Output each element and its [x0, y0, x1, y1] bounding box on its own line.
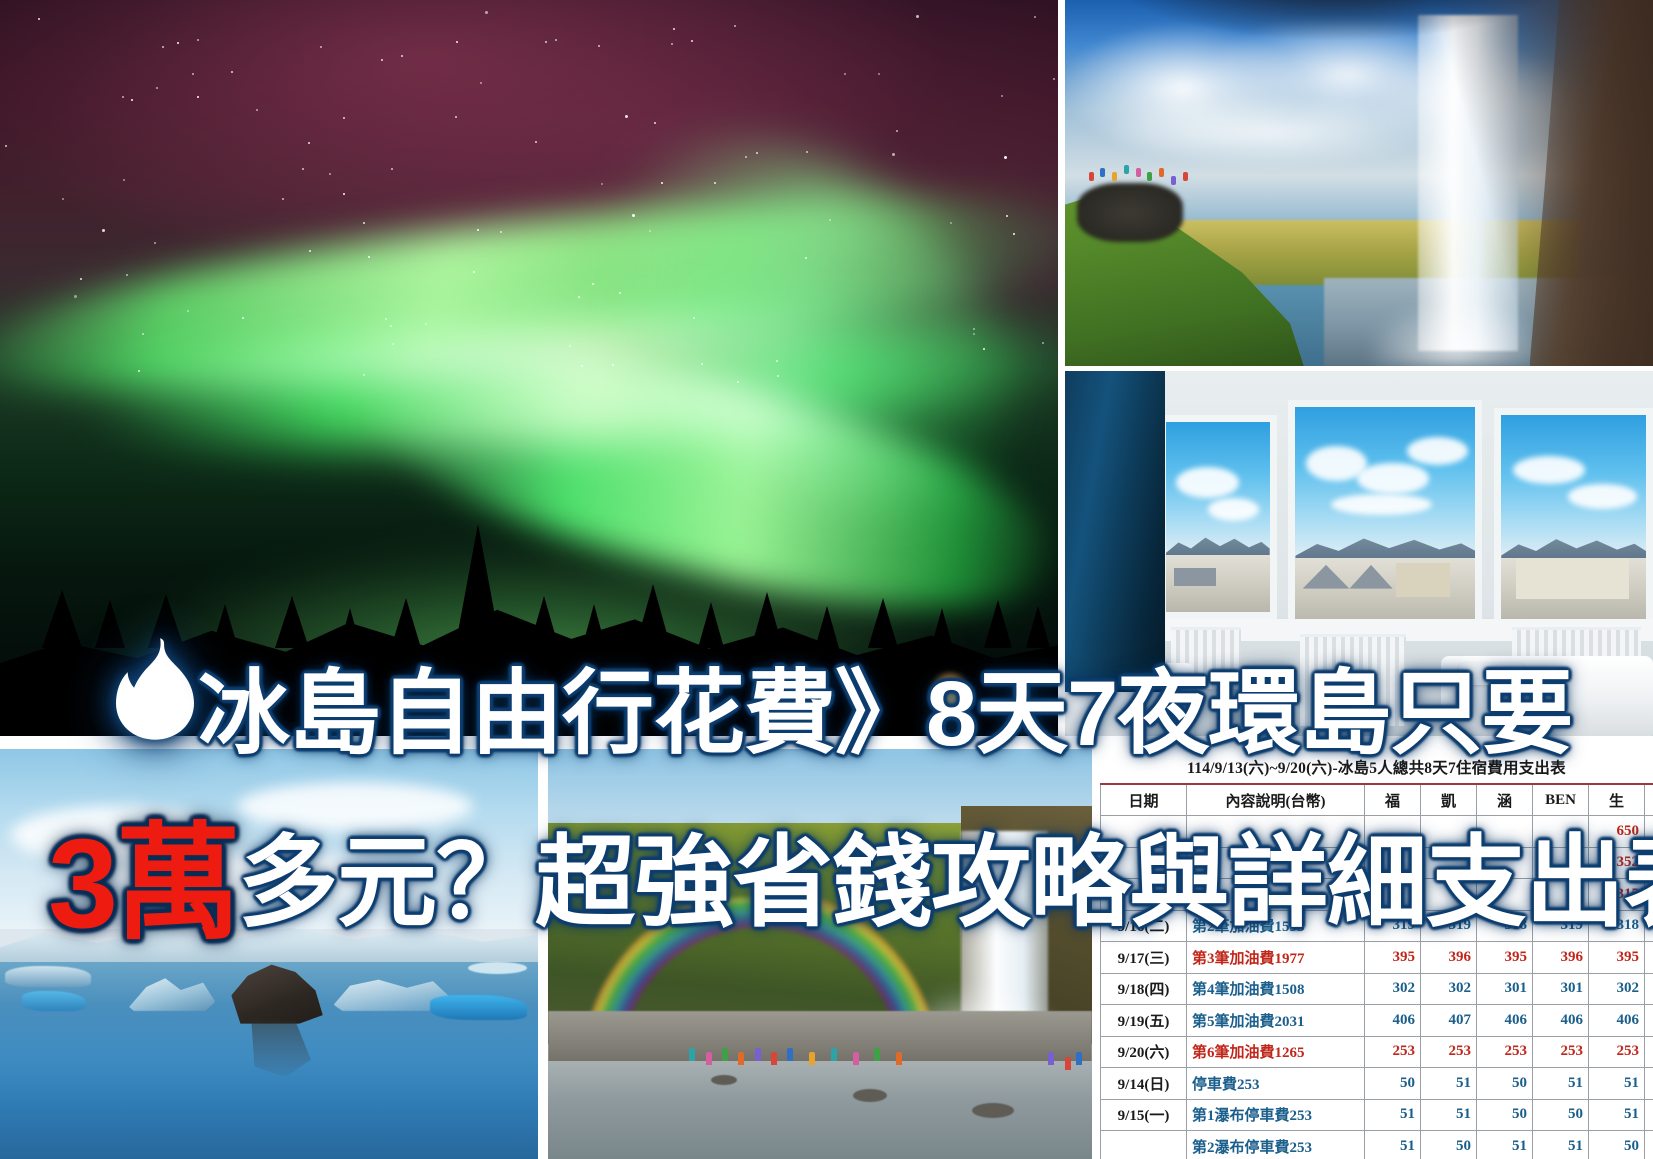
star	[156, 87, 158, 89]
star	[654, 122, 656, 124]
table-row: 9/16(二)第2筆加油費15933193193183193181593	[1101, 910, 1653, 942]
cell-total: 1508	[1645, 973, 1653, 1005]
star	[256, 109, 258, 111]
star	[123, 179, 125, 181]
tourist	[1147, 172, 1152, 181]
cell-date: 9/18(四)	[1101, 973, 1187, 1005]
cell-sheng: 352	[1589, 847, 1645, 879]
curtain	[1065, 371, 1165, 692]
star	[601, 183, 603, 185]
tourist	[896, 1052, 902, 1065]
cell-desc	[1187, 816, 1365, 848]
cell-kai: 302	[1421, 973, 1477, 1005]
col-header-total: 總計	[1645, 784, 1653, 816]
star	[302, 168, 304, 170]
tourist	[722, 1048, 728, 1061]
cell-han	[1477, 816, 1533, 848]
table-row: 3521750	[1101, 847, 1653, 879]
star	[401, 55, 403, 57]
cell-date: 9/15(一)	[1101, 1099, 1187, 1131]
conifer-tree	[148, 594, 184, 648]
star	[363, 222, 365, 224]
cell-fu	[1365, 847, 1421, 879]
cell-desc	[1187, 847, 1365, 879]
conifer-tree	[95, 600, 125, 648]
star	[102, 229, 105, 232]
photo-aurora-borealis-over-forest	[0, 0, 1058, 736]
conifer-tree	[751, 592, 783, 648]
col-header-ben: BEN	[1533, 784, 1589, 816]
campfire-glow-2	[931, 673, 969, 707]
star	[844, 73, 846, 75]
cell-total: 1265	[1645, 1036, 1653, 1068]
cell-fu	[1365, 879, 1421, 911]
tourist	[1159, 168, 1164, 177]
wf1-rocks	[1077, 183, 1183, 242]
star	[892, 153, 895, 156]
window-right	[1494, 408, 1653, 627]
tourist	[1048, 1052, 1054, 1065]
cell-sheng: 406	[1589, 1005, 1645, 1037]
star	[343, 193, 345, 195]
cell-kai	[1421, 879, 1477, 911]
conifer-tree	[582, 604, 606, 648]
window-center	[1288, 400, 1482, 630]
star	[197, 39, 199, 41]
cell-han: 301	[1477, 973, 1533, 1005]
conifer-tree	[868, 598, 898, 648]
cell-kai: 407	[1421, 1005, 1477, 1037]
cell-kai: 50	[1421, 1131, 1477, 1159]
cell-sheng: 253	[1589, 1036, 1645, 1068]
tourist	[689, 1048, 695, 1061]
cell-ben: 50	[1533, 1099, 1589, 1131]
tourist	[738, 1052, 744, 1065]
cell-desc: 第1瀑布停車費253	[1187, 1099, 1365, 1131]
star	[545, 41, 547, 43]
star	[391, 168, 393, 170]
cell-date: 9/20(六)	[1101, 1036, 1187, 1068]
tourist	[1100, 168, 1105, 177]
conifer-tree	[275, 596, 309, 648]
col-header-fu: 福	[1365, 784, 1421, 816]
star	[126, 274, 128, 276]
cell-fu: 51	[1365, 1131, 1421, 1159]
star	[154, 242, 156, 244]
col-header-date: 日期	[1101, 784, 1187, 816]
star	[691, 40, 693, 42]
cell-sheng: 315	[1589, 879, 1645, 911]
star	[1034, 16, 1036, 18]
conifer-tree	[529, 596, 559, 648]
col-header-han: 涵	[1477, 784, 1533, 816]
table-row: 9/15(一)第1瀑布停車費2535151505051253	[1101, 1099, 1653, 1131]
cell-han: 406	[1477, 1005, 1533, 1037]
cell-date: 9/17(三)	[1101, 942, 1187, 974]
cell-fu: 253	[1365, 1036, 1421, 1068]
table-row: 9/14(日)停車費2535051505151253	[1101, 1068, 1653, 1100]
star	[896, 130, 898, 132]
cell-han: 50	[1477, 1099, 1533, 1131]
star	[455, 116, 457, 118]
tourist	[1124, 165, 1129, 174]
star	[381, 59, 383, 61]
cell-date: 9/16(二)	[1101, 910, 1187, 942]
conifer-tree	[1026, 606, 1050, 648]
cell-ben: 253	[1533, 1036, 1589, 1068]
star	[1001, 95, 1003, 97]
cell-ben: 301	[1533, 973, 1589, 1005]
table-row: 第2瀑布停車費2535150515150253	[1101, 1131, 1653, 1159]
star	[162, 46, 164, 48]
cell-kai: 51	[1421, 1099, 1477, 1131]
table-row: 9/19(五)第5筆加油費20314064074064064062031	[1101, 1005, 1653, 1037]
tourist	[853, 1052, 859, 1065]
star	[231, 71, 233, 73]
cell-kai: 51	[1421, 1068, 1477, 1100]
cell-desc: 第2筆加油費1593	[1187, 910, 1365, 942]
cell-total: 1750	[1645, 847, 1653, 879]
cell-ben: 51	[1533, 1068, 1589, 1100]
conifer-tree	[698, 602, 724, 648]
star	[122, 96, 124, 98]
conifer-tree	[391, 598, 421, 648]
conifer-tree	[931, 608, 953, 648]
thumbnail-collage: 114/9/13(六)~9/20(六)-冰島5人總共8天7住宿費用支出表 日期 …	[0, 0, 1653, 1159]
photo-hostel-room-window-view	[1065, 371, 1653, 736]
star	[5, 145, 7, 147]
tourist	[809, 1052, 815, 1065]
conifer-tree	[455, 524, 501, 648]
cell-sheng: 51	[1589, 1068, 1645, 1100]
cell-han: 51	[1477, 1131, 1533, 1159]
table-row: 3151574	[1101, 879, 1653, 911]
cell-han: 395	[1477, 942, 1533, 974]
star	[177, 42, 179, 44]
star	[192, 73, 194, 75]
tourist	[706, 1052, 712, 1065]
cell-fu: 50	[1365, 1068, 1421, 1100]
star	[734, 25, 736, 27]
tourist	[755, 1048, 761, 1061]
cell-fu	[1365, 816, 1421, 848]
cell-total: 1977	[1645, 942, 1653, 974]
cell-kai: 319	[1421, 910, 1477, 942]
tourist	[1076, 1052, 1082, 1065]
cell-ben	[1533, 879, 1589, 911]
tourist	[1136, 168, 1141, 177]
conifer-tree	[815, 606, 839, 648]
wf2-rock-1	[853, 1089, 887, 1102]
star	[671, 43, 673, 45]
cell-ben	[1533, 847, 1589, 879]
star	[673, 28, 675, 30]
table-row: 9/18(四)第4筆加油費15083023023013013021508	[1101, 973, 1653, 1005]
cell-total: 253	[1645, 1131, 1653, 1159]
cell-sheng: 650	[1589, 816, 1645, 848]
tourist	[1065, 1057, 1071, 1070]
cell-kai: 253	[1421, 1036, 1477, 1068]
star	[806, 151, 808, 153]
star	[456, 41, 458, 43]
star	[555, 39, 557, 41]
window-left	[1159, 415, 1277, 619]
star	[598, 45, 600, 47]
cell-total: 253	[1645, 1099, 1653, 1131]
star	[480, 82, 482, 84]
cell-fu: 406	[1365, 1005, 1421, 1037]
cell-kai	[1421, 816, 1477, 848]
star	[329, 173, 331, 175]
tourist	[787, 1048, 793, 1061]
photo-jokulsarlon-glacier-lagoon	[0, 749, 538, 1159]
cell-sheng: 51	[1589, 1099, 1645, 1131]
campfire-glow-1	[772, 667, 818, 707]
cell-desc: 第2瀑布停車費253	[1187, 1131, 1365, 1159]
cell-desc: 第3筆加油費1977	[1187, 942, 1365, 974]
cell-han: 50	[1477, 1068, 1533, 1100]
cell-ben: 406	[1533, 1005, 1589, 1037]
expense-table: 日期 內容說明(台幣) 福 凱 涵 BEN 生 總計 6502825035217…	[1100, 783, 1653, 1159]
col-header-sheng: 生	[1589, 784, 1645, 816]
table-row: 9/17(三)第3筆加油費19773953963953963951977	[1101, 942, 1653, 974]
table-row: 9/20(六)第6筆加油費12652532532532532531265	[1101, 1036, 1653, 1068]
cell-total: 253	[1645, 1068, 1653, 1100]
cell-fu: 302	[1365, 973, 1421, 1005]
col-header-desc: 內容說明(台幣)	[1187, 784, 1365, 816]
cell-total: 28250	[1645, 816, 1653, 848]
cell-total: 1593	[1645, 910, 1653, 942]
cell-ben: 51	[1533, 1131, 1589, 1159]
conifer-tree	[42, 590, 82, 648]
cell-ben: 319	[1533, 910, 1589, 942]
cell-date	[1101, 879, 1187, 911]
star	[916, 15, 919, 18]
star	[282, 198, 284, 200]
cell-sheng: 302	[1589, 973, 1645, 1005]
cell-date	[1101, 816, 1187, 848]
cell-sheng: 318	[1589, 910, 1645, 942]
conifer-tree	[635, 584, 671, 648]
table-header-row: 日期 內容說明(台幣) 福 凱 涵 BEN 生 總計	[1101, 784, 1653, 816]
iceberg-5	[430, 995, 527, 1020]
star	[1004, 156, 1007, 159]
iceberg-2	[22, 991, 87, 1012]
cell-total: 2031	[1645, 1005, 1653, 1037]
cell-han: 253	[1477, 1036, 1533, 1068]
cell-sheng: 50	[1589, 1131, 1645, 1159]
star	[485, 11, 488, 14]
star	[197, 96, 199, 98]
star	[343, 117, 345, 119]
cell-han	[1477, 847, 1533, 879]
cell-date	[1101, 847, 1187, 879]
cell-fu: 319	[1365, 910, 1421, 942]
cell-han: 318	[1477, 910, 1533, 942]
cell-fu: 51	[1365, 1099, 1421, 1131]
star	[308, 142, 310, 144]
cell-date: 9/19(五)	[1101, 1005, 1187, 1037]
star	[625, 115, 628, 118]
cell-date	[1101, 1131, 1187, 1159]
iceberg-1	[5, 966, 91, 987]
star	[1053, 78, 1055, 80]
cell-date: 9/14(日)	[1101, 1068, 1187, 1100]
tourist	[771, 1052, 777, 1065]
cell-ben	[1533, 816, 1589, 848]
tourist	[874, 1048, 880, 1061]
tourist	[831, 1048, 837, 1061]
conifer-tree	[984, 600, 1012, 648]
star	[131, 99, 133, 101]
spreadsheet-title: 114/9/13(六)~9/20(六)-冰島5人總共8天7住宿費用支出表	[1098, 753, 1653, 783]
col-header-kai: 凱	[1421, 784, 1477, 816]
cell-han	[1477, 879, 1533, 911]
cell-sheng: 395	[1589, 942, 1645, 974]
towel-right	[1459, 663, 1524, 685]
star	[80, 278, 82, 280]
tourist	[1089, 172, 1094, 181]
table-row: 65028250	[1101, 816, 1653, 848]
cell-ben: 396	[1533, 942, 1589, 974]
cell-total: 1574	[1645, 879, 1653, 911]
cell-desc: 第4筆加油費1508	[1187, 973, 1365, 1005]
star	[62, 198, 64, 200]
cell-desc: 第6筆加油費1265	[1187, 1036, 1365, 1068]
star	[320, 46, 322, 48]
expense-spreadsheet: 114/9/13(六)~9/20(六)-冰島5人總共8天7住宿費用支出表 日期 …	[1098, 749, 1653, 1159]
wf1-cave-overhang	[1065, 0, 1653, 366]
tourist	[1171, 176, 1176, 185]
tourist	[1183, 172, 1188, 181]
conifer-tree	[339, 608, 361, 648]
cell-kai	[1421, 847, 1477, 879]
cell-kai: 396	[1421, 942, 1477, 974]
cell-fu: 395	[1365, 942, 1421, 974]
conifer-tree	[212, 604, 238, 648]
photo-seljalandsfoss-waterfall	[1065, 0, 1653, 366]
cell-desc: 停車費253	[1187, 1068, 1365, 1100]
star	[38, 18, 40, 20]
photo-skogafoss-waterfall-rainbow	[548, 749, 1092, 1159]
cell-desc	[1187, 879, 1365, 911]
tourist	[1112, 172, 1117, 181]
star	[878, 73, 880, 75]
cell-desc: 第5筆加油費2031	[1187, 1005, 1365, 1037]
star	[535, 141, 537, 143]
radiator-center	[1300, 634, 1406, 729]
